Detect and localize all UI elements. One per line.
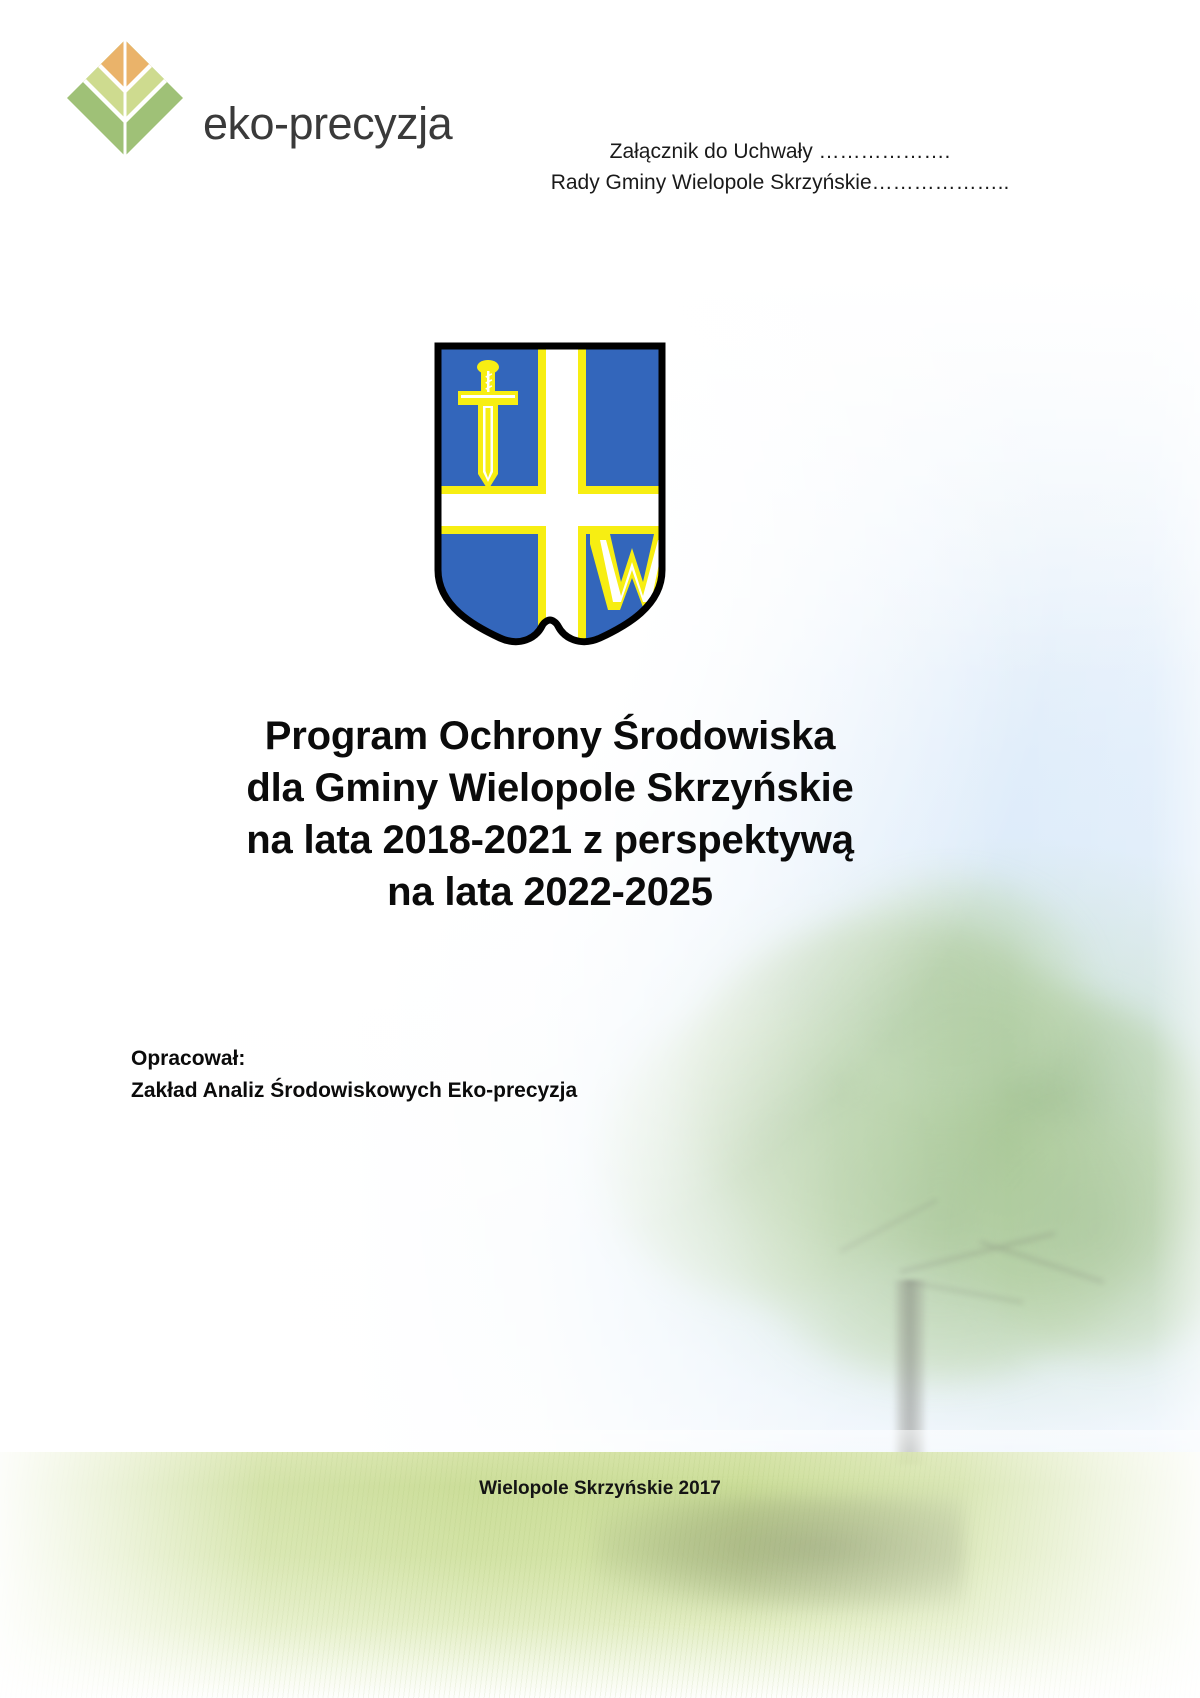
attachment-note-line-2: Rady Gminy Wielopole Skrzyńskie………………..: [500, 167, 1060, 198]
cover-content: eko-precyzja Załącznik do Uchwały …………………: [0, 0, 1200, 1698]
attachment-note: Załącznik do Uchwały ………………. Rady Gminy …: [500, 136, 1060, 198]
logo-wordmark: eko-precyzja: [203, 98, 452, 150]
page-title-line-1: Program Ochrony Środowiska: [130, 710, 970, 762]
page-title-line-2: dla Gminy Wielopole Skrzyńskie: [130, 762, 970, 814]
eko-precyzja-leaf-logo-icon: [55, 28, 195, 168]
coat-of-arms: [430, 338, 670, 648]
page-title-line-4: na lata 2022-2025: [130, 866, 970, 918]
document-cover-page: eko-precyzja Załącznik do Uchwały …………………: [0, 0, 1200, 1698]
author-label: Opracował:: [131, 1043, 577, 1075]
company-logo: eko-precyzja: [55, 28, 452, 168]
footer-place-year: Wielopole Skrzyńskie 2017: [0, 1478, 1200, 1500]
author-name: Zakład Analiz Środowiskowych Eko-precyzj…: [131, 1075, 577, 1107]
page-title: Program Ochrony Środowiska dla Gminy Wie…: [130, 710, 970, 918]
author-block: Opracował: Zakład Analiz Środowiskowych …: [131, 1043, 577, 1107]
attachment-note-line-1: Załącznik do Uchwały ……………….: [500, 136, 1060, 167]
coat-of-arms-icon: [430, 338, 670, 648]
page-title-line-3: na lata 2018-2021 z perspektywą: [130, 814, 970, 866]
